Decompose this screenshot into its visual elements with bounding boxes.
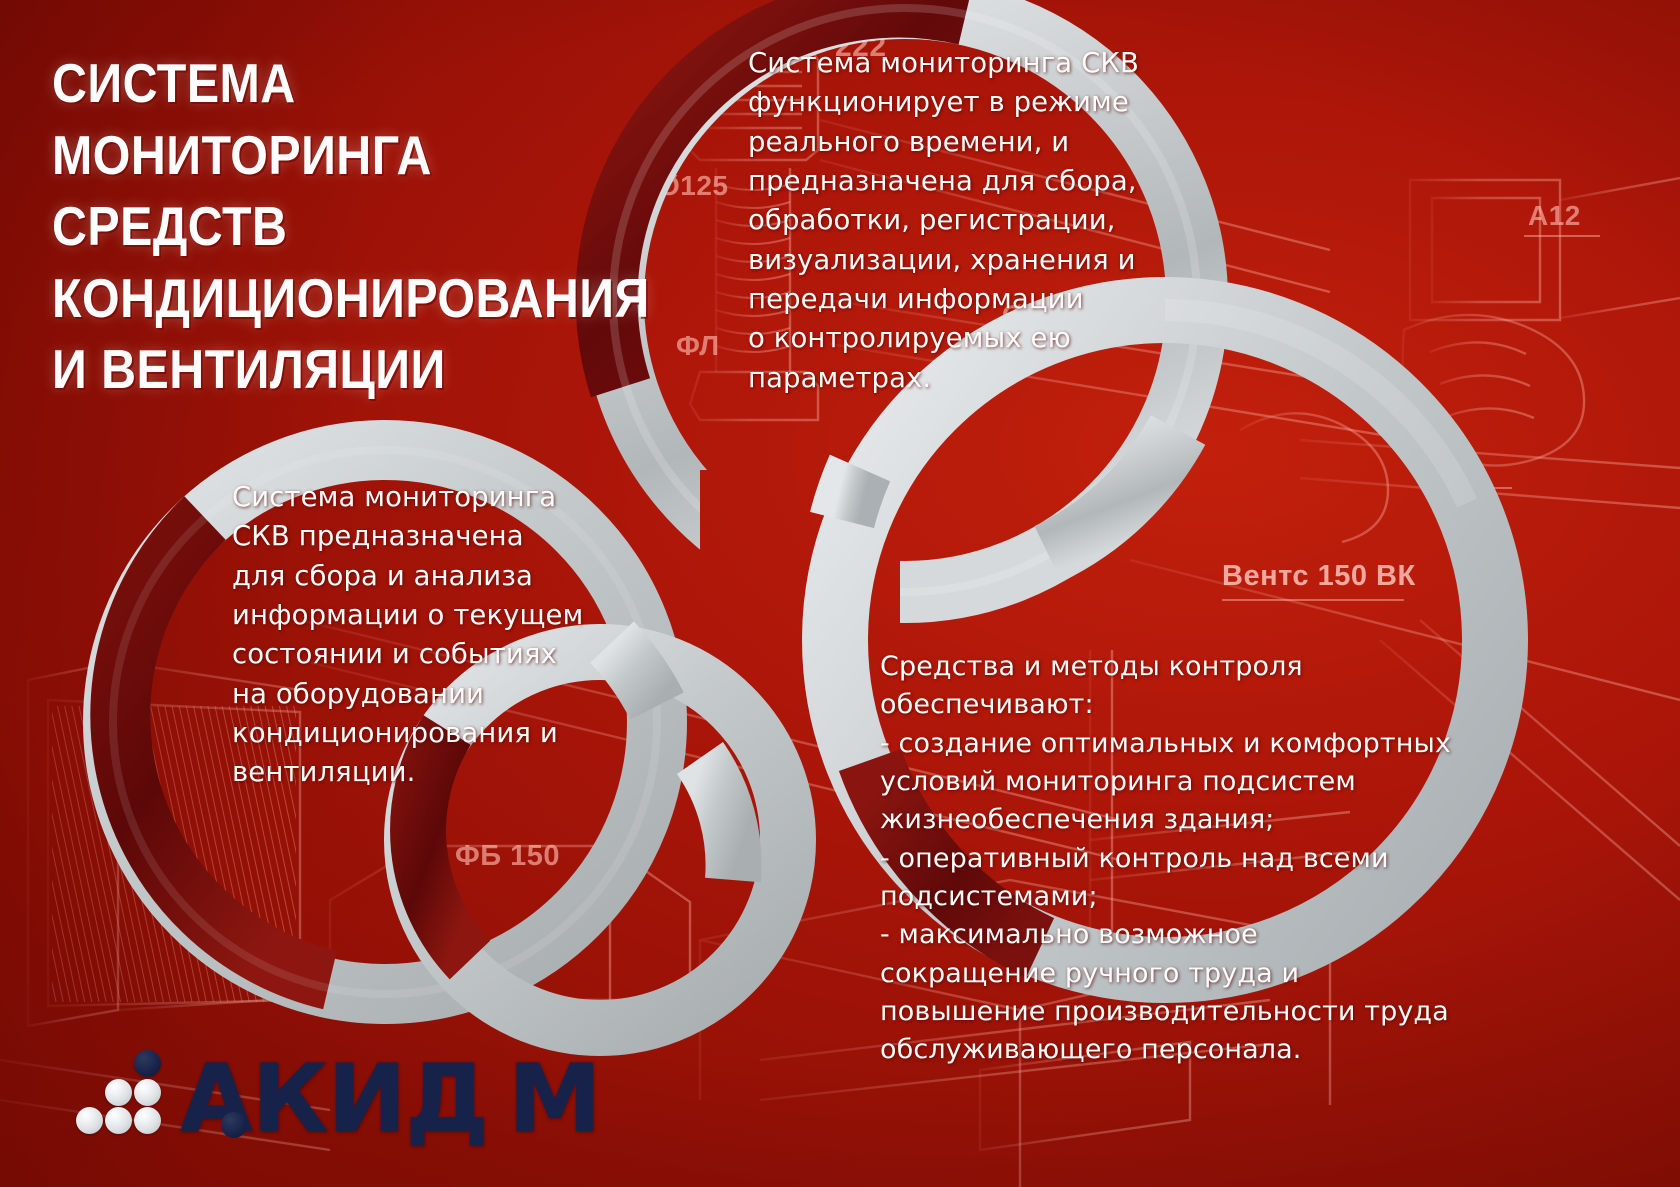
- akid-m-logo: АКИДМ: [72, 1024, 601, 1144]
- text-block-control-methods-list: Средства и методы контроля обеспечивают:…: [880, 648, 1500, 1070]
- logo-dot: [105, 1107, 132, 1134]
- logo-letters-kid: КИД: [252, 1045, 488, 1154]
- title-line: КОНДИЦИОНИРОВАНИЯ: [52, 263, 615, 335]
- logo-inner-dot-icon: [221, 1112, 247, 1138]
- logo-letter-a: А: [180, 1045, 252, 1154]
- logo-dot: [134, 1050, 161, 1077]
- logo-wordmark: АКИДМ: [180, 1055, 601, 1144]
- slide-canvas: 222 Ø125 ФЛ Ø125 А12 313 Вентс 150 ВК ФБ…: [0, 0, 1680, 1187]
- text-block-purpose-description: Система мониторинга СКВ предназначена дл…: [232, 478, 652, 793]
- logo-dot: [134, 1079, 161, 1106]
- title-line: СРЕДСТВ: [52, 191, 615, 263]
- logo-letter-m: М: [508, 1045, 601, 1154]
- logo-dot: [76, 1107, 103, 1134]
- logo-dot: [105, 1079, 132, 1106]
- title-line: СИСТЕМА: [52, 48, 615, 120]
- text-block-realtime-description: Система мониторинга СКВ функционирует в …: [748, 44, 1218, 398]
- page-title: СИСТЕМА МОНИТОРИНГА СРЕДСТВ КОНДИЦИОНИРО…: [52, 48, 615, 406]
- logo-dot-grid-icon: [72, 1050, 176, 1134]
- title-line: И ВЕНТИЛЯЦИИ: [52, 334, 615, 406]
- title-line: МОНИТОРИНГА: [52, 120, 615, 192]
- logo-dot: [134, 1107, 161, 1134]
